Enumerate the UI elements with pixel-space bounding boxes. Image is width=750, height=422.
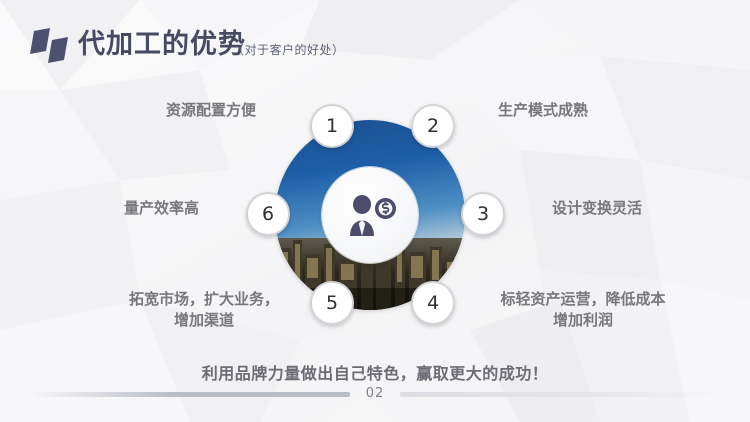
node-circle-1[interactable]: 1 xyxy=(310,104,354,148)
node-circle-5[interactable]: 5 xyxy=(310,281,354,325)
node-circle-2[interactable]: 2 xyxy=(411,104,455,148)
double-parallelogram-logo-icon xyxy=(30,27,72,65)
page-subtitle: （对于客户的好处） xyxy=(232,41,345,58)
node-label-1: 资源配置方便 xyxy=(166,100,256,121)
page-number: 02 xyxy=(0,386,750,401)
node-label-3: 设计变换灵活 xyxy=(552,198,642,219)
node-circle-6[interactable]: 6 xyxy=(246,192,290,236)
businessman-dollar-icon xyxy=(343,192,397,238)
page-title: 代加工的优势 xyxy=(78,28,246,62)
node-label-5: 拓宽市场，扩大业务， 增加渠道 xyxy=(116,289,292,331)
node-circle-3[interactable]: 3 xyxy=(461,192,505,236)
node-label-6: 量产效率高 xyxy=(124,198,199,219)
node-circle-4[interactable]: 4 xyxy=(411,281,455,325)
slide-canvas: 代加工的优势 （对于客户的好处） xyxy=(0,0,750,422)
slide-header: 代加工的优势 （对于客户的好处） xyxy=(0,0,750,80)
slide-caption: 利用品牌力量做出自己特色，赢取更大的成功！ xyxy=(0,360,750,384)
center-icon-disc xyxy=(322,167,418,263)
slide-footer: 02 xyxy=(0,386,750,422)
node-label-4: 标轻资产运营，降低成本 增加利润 xyxy=(485,289,681,331)
node-label-2: 生产模式成熟 xyxy=(498,100,588,121)
